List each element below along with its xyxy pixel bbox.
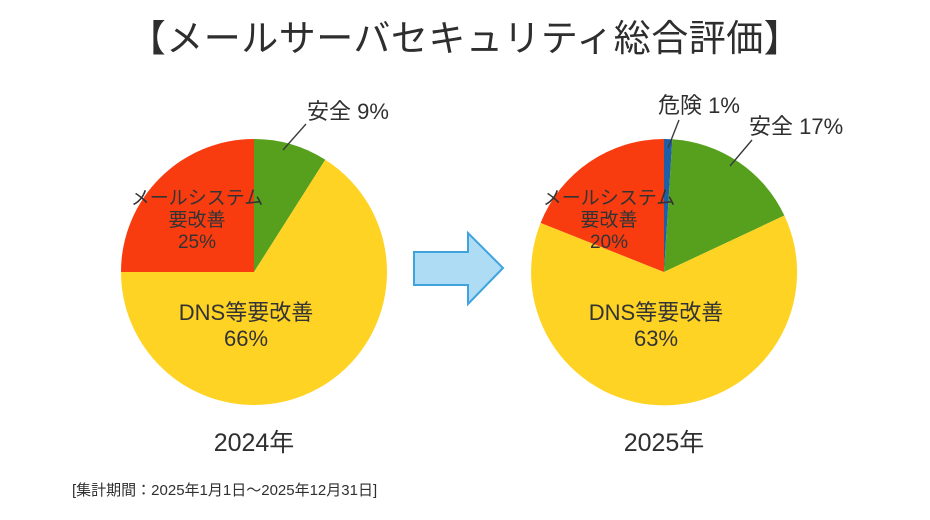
slice-label-mail-2024: メールシステム 要改善 25%: [118, 188, 276, 255]
pie-chart-2025: [531, 120, 797, 405]
footnote-aggregation-period: [集計期間：2025年1月1日～2025年12月31日]: [72, 479, 377, 500]
callout-label-safe-2024: 安全 9%: [307, 100, 389, 124]
slice-label-line: 25%: [118, 232, 276, 254]
slice-label-line: メールシステム: [118, 188, 276, 210]
slice-label-line: メールシステム: [530, 188, 688, 210]
slice-label-dns-2025: DNS等要改善 63%: [556, 300, 756, 351]
slice-label-line: 要改善: [530, 210, 688, 232]
slice-label-line: 20%: [530, 232, 688, 254]
year-label-2024: 2024年: [154, 423, 354, 459]
callout-label-safe-2025: 安全 17%: [749, 115, 843, 139]
slice-label-dns-2024: DNS等要改善 66%: [146, 300, 346, 351]
callout-line-safe-2025: [730, 140, 752, 166]
callout-label-danger-2025: 危険 1%: [658, 94, 740, 118]
pie-chart-2024: [121, 124, 387, 405]
chart-canvas: 【メールサーバセキュリティ総合評価】: [0, 0, 930, 520]
right-arrow-icon: [414, 233, 503, 304]
pie-charts-svg: [0, 0, 930, 520]
slice-label-line: 66%: [146, 326, 346, 352]
slice-label-line: 63%: [556, 326, 756, 352]
slice-label-line: 要改善: [118, 210, 276, 232]
slice-label-line: DNS等要改善: [146, 300, 346, 326]
year-label-2025: 2025年: [564, 423, 764, 459]
slice-label-line: DNS等要改善: [556, 300, 756, 326]
slice-label-mail-2025: メールシステム 要改善 20%: [530, 188, 688, 255]
